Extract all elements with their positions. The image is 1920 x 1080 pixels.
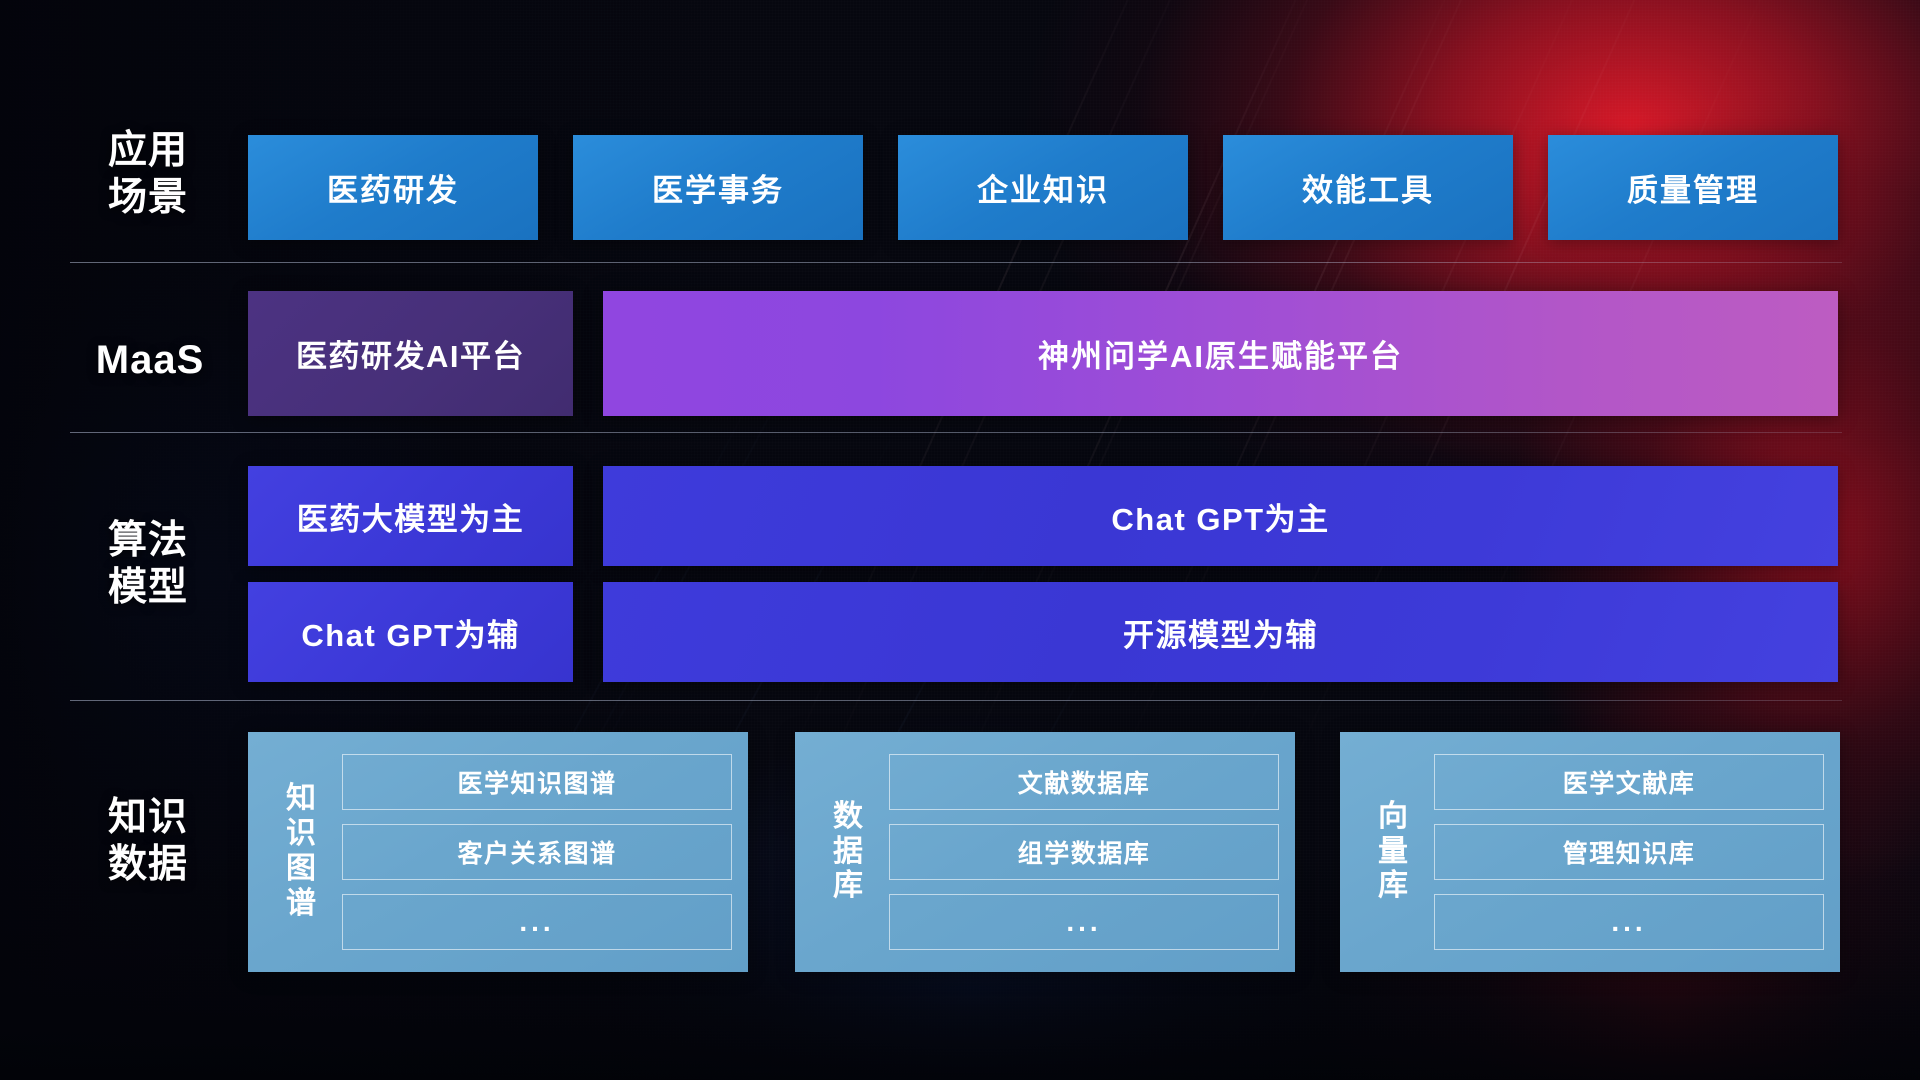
maas-left-box[interactable]: 医药研发AI平台 (248, 291, 573, 416)
knowledge-panel-2-item-3-label: ... (1066, 906, 1101, 938)
application-box-3[interactable]: 企业知识 (898, 135, 1188, 240)
maas-right-box-label: 神州问学AI原生赋能平台 (1038, 331, 1403, 376)
application-box-2[interactable]: 医学事务 (573, 135, 863, 240)
application-box-4-label: 效能工具 (1302, 165, 1434, 210)
tier-label-knowledge: 知识 数据 (78, 795, 218, 889)
divider-application-maas (70, 262, 1842, 263)
application-box-3-label: 企业知识 (977, 165, 1109, 210)
knowledge-panel-3-item-1[interactable]: 医学文献库 (1434, 754, 1824, 810)
knowledge-panel-1-item-1[interactable]: 医学知识图谱 (342, 754, 732, 810)
algorithm-row1-left-box[interactable]: 医药大模型为主 (248, 466, 573, 566)
knowledge-panel-1-vertical-label: 知 识 图 谱 (270, 782, 332, 921)
algorithm-row1-right-box[interactable]: Chat GPT为主 (603, 466, 1838, 566)
knowledge-panel-2[interactable]: 数 据 库 文献数据库 组学数据库 ... (795, 732, 1295, 972)
knowledge-panel-1-item-2[interactable]: 客户关系图谱 (342, 824, 732, 880)
knowledge-panel-3-vertical-label: 向 量 库 (1362, 800, 1424, 904)
knowledge-panel-2-items: 文献数据库 组学数据库 ... (889, 754, 1279, 950)
knowledge-panel-1-items: 医学知识图谱 客户关系图谱 ... (342, 754, 732, 950)
knowledge-panel-1-item-3-label: ... (519, 906, 554, 938)
application-box-1[interactable]: 医药研发 (248, 135, 538, 240)
knowledge-panel-2-vertical-label: 数 据 库 (817, 800, 879, 904)
divider-algorithm-knowledge (70, 700, 1842, 701)
algorithm-row1-left-label: 医药大模型为主 (297, 494, 525, 539)
knowledge-panel-1-item-3[interactable]: ... (342, 894, 732, 950)
knowledge-panel-1-item-2-label: 客户关系图谱 (457, 834, 616, 870)
application-box-4[interactable]: 效能工具 (1223, 135, 1513, 240)
knowledge-panel-1[interactable]: 知 识 图 谱 医学知识图谱 客户关系图谱 ... (248, 732, 748, 972)
knowledge-panel-3-item-2[interactable]: 管理知识库 (1434, 824, 1824, 880)
tier-label-algorithm: 算法 模型 (78, 518, 218, 612)
knowledge-panel-3-item-3-label: ... (1611, 906, 1646, 938)
algorithm-row2-right-label: 开源模型为辅 (1123, 610, 1318, 655)
tier-label-application: 应用 场景 (78, 128, 218, 222)
architecture-diagram: 应用 场景 医药研发 医学事务 企业知识 效能工具 质量管理 MaaS 医药研发… (0, 0, 1920, 1080)
knowledge-panel-2-item-2-label: 组学数据库 (1018, 834, 1151, 870)
knowledge-panel-3[interactable]: 向 量 库 医学文献库 管理知识库 ... (1340, 732, 1840, 972)
knowledge-panel-2-item-1[interactable]: 文献数据库 (889, 754, 1279, 810)
tier-label-maas: MaaS (70, 336, 230, 384)
maas-right-box[interactable]: 神州问学AI原生赋能平台 (603, 291, 1838, 416)
knowledge-panel-2-item-2[interactable]: 组学数据库 (889, 824, 1279, 880)
algorithm-row2-left-box[interactable]: Chat GPT为辅 (248, 582, 573, 682)
maas-left-box-label: 医药研发AI平台 (296, 331, 525, 376)
application-box-1-label: 医药研发 (327, 165, 459, 210)
knowledge-panel-3-item-3[interactable]: ... (1434, 894, 1824, 950)
knowledge-panel-3-item-2-label: 管理知识库 (1563, 834, 1696, 870)
algorithm-row2-right-box[interactable]: 开源模型为辅 (603, 582, 1838, 682)
application-box-2-label: 医学事务 (652, 165, 784, 210)
knowledge-panel-3-item-1-label: 医学文献库 (1563, 764, 1696, 800)
application-box-5-label: 质量管理 (1627, 165, 1759, 210)
algorithm-row2-left-label: Chat GPT为辅 (301, 610, 519, 655)
knowledge-panel-1-item-1-label: 医学知识图谱 (457, 764, 616, 800)
knowledge-panel-2-item-3[interactable]: ... (889, 894, 1279, 950)
application-box-5[interactable]: 质量管理 (1548, 135, 1838, 240)
divider-maas-algorithm (70, 432, 1842, 433)
algorithm-row1-right-label: Chat GPT为主 (1111, 494, 1329, 539)
knowledge-panel-2-item-1-label: 文献数据库 (1018, 764, 1151, 800)
knowledge-panel-3-items: 医学文献库 管理知识库 ... (1434, 754, 1824, 950)
diagram-content: 应用 场景 医药研发 医学事务 企业知识 效能工具 质量管理 MaaS 医药研发… (0, 0, 1920, 1080)
